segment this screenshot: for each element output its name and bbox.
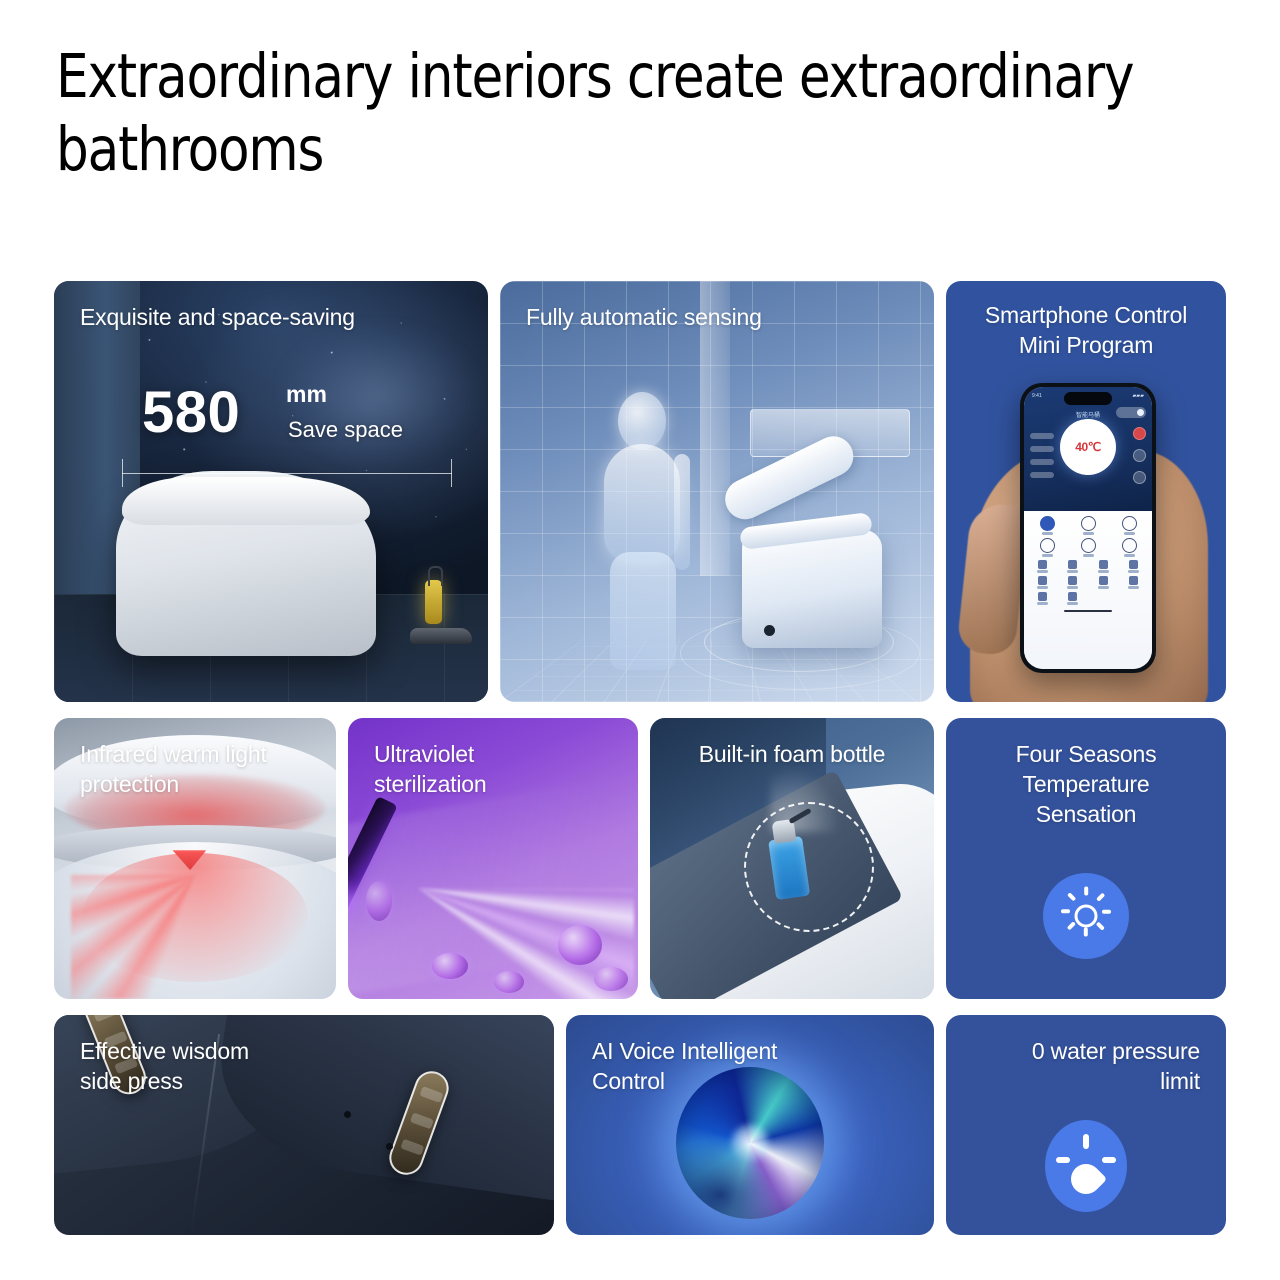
zero-pressure-icon-wrap bbox=[946, 1120, 1226, 1212]
control-row-secondary[interactable] bbox=[1028, 538, 1148, 557]
measure-caption: Save space bbox=[288, 417, 403, 443]
card-title-ai-voice: AI Voice Intelligent Control bbox=[566, 1015, 934, 1097]
water-drop bbox=[1065, 1158, 1107, 1200]
smartphone-device: 9:41 ▰▰▰ 智能马桶 bbox=[1020, 383, 1156, 673]
dimension-tick-right bbox=[451, 459, 452, 487]
flush-icon[interactable] bbox=[1133, 449, 1146, 462]
highlight-dashed-circle bbox=[744, 802, 874, 932]
side-button-dry[interactable] bbox=[400, 1139, 424, 1156]
person-legs bbox=[610, 552, 676, 670]
settings-icon[interactable] bbox=[1133, 471, 1146, 484]
control-key-label bbox=[1042, 532, 1053, 535]
card-title-side-press: Effective wisdom side press bbox=[54, 1015, 554, 1097]
gauge-tick-left bbox=[1056, 1157, 1070, 1163]
water-drop-gauge-icon bbox=[1056, 1134, 1116, 1198]
card-title-auto-sensing: Fully automatic sensing bbox=[500, 281, 934, 333]
control-key[interactable] bbox=[1028, 538, 1066, 557]
control-grid-row-3[interactable] bbox=[1028, 592, 1148, 605]
sun-ray bbox=[1067, 893, 1076, 902]
dimension-callout: 580 mm Save space bbox=[94, 393, 449, 477]
control-key-label bbox=[1124, 532, 1135, 535]
control-key[interactable] bbox=[1120, 560, 1149, 573]
card-title-zero-water-pressure: 0 water pressure limit bbox=[946, 1015, 1226, 1097]
massage-icon bbox=[1129, 560, 1138, 569]
status-tag-list bbox=[1030, 433, 1054, 478]
status-bar-time: 9:41 bbox=[1032, 393, 1042, 399]
control-key-label bbox=[1124, 554, 1135, 557]
control-key-label bbox=[1037, 602, 1048, 605]
control-key[interactable] bbox=[1110, 516, 1148, 535]
card-title-infrared: Infrared warm light protection bbox=[54, 718, 336, 800]
sun-ray bbox=[1067, 922, 1076, 931]
bacteria-particle bbox=[432, 953, 468, 979]
slipper-prop bbox=[410, 628, 472, 644]
person-arm bbox=[674, 454, 690, 570]
control-key[interactable] bbox=[1059, 560, 1088, 573]
home-indicator-area bbox=[1028, 608, 1148, 614]
status-tag bbox=[1030, 446, 1054, 452]
control-key[interactable] bbox=[1089, 576, 1118, 589]
feature-card-ultraviolet[interactable]: Ultraviolet sterilization bbox=[348, 718, 638, 999]
control-key[interactable] bbox=[1059, 576, 1088, 589]
app-header: 9:41 ▰▰▰ 智能马桶 bbox=[1024, 387, 1152, 511]
infographic-page: Extraordinary interiors create extraordi… bbox=[0, 0, 1280, 1280]
sun-ray bbox=[1096, 893, 1105, 902]
phone-screen: 9:41 ▰▰▰ 智能马桶 bbox=[1024, 387, 1152, 669]
control-key[interactable] bbox=[1069, 538, 1107, 557]
child-mode-icon bbox=[1068, 592, 1077, 601]
control-key[interactable] bbox=[1028, 516, 1066, 535]
control-key-label bbox=[1067, 602, 1078, 605]
seat-temp-icon bbox=[1068, 560, 1077, 569]
four-seasons-icon-wrap bbox=[946, 873, 1226, 959]
control-key-label bbox=[1037, 586, 1048, 589]
measure-number: 580 bbox=[142, 379, 240, 446]
feature-card-space-saving[interactable]: Exquisite and space-saving 580 mm Save s… bbox=[54, 281, 488, 702]
control-key[interactable] bbox=[1028, 560, 1057, 573]
control-key-label bbox=[1083, 554, 1094, 557]
feature-card-zero-water-pressure[interactable]: 0 water pressure limit bbox=[946, 1015, 1226, 1235]
water-temp-icon bbox=[1038, 560, 1047, 569]
foam-icon bbox=[1038, 576, 1047, 585]
card-title-space-saving: Exquisite and space-saving bbox=[54, 281, 488, 333]
control-key-label bbox=[1067, 570, 1078, 573]
feature-card-grid: Exquisite and space-saving 580 mm Save s… bbox=[54, 281, 1226, 1235]
page-title: Extraordinary interiors create extraordi… bbox=[56, 40, 1146, 186]
temperature-value: 40℃ bbox=[1075, 440, 1101, 454]
gold-accent-trim bbox=[138, 507, 182, 514]
sun-icon bbox=[1060, 890, 1112, 942]
card-title-four-seasons: Four Seasons Temperature Sensation bbox=[946, 718, 1226, 830]
dimension-bar bbox=[122, 473, 452, 474]
dimension-line bbox=[122, 459, 452, 481]
air-temp-icon bbox=[1099, 560, 1108, 569]
infrared-warm-pool bbox=[82, 853, 308, 982]
control-key-label bbox=[1067, 586, 1078, 589]
person-head bbox=[618, 392, 666, 450]
person-torso bbox=[604, 444, 680, 562]
power-icon[interactable] bbox=[1133, 427, 1146, 440]
measure-unit: mm bbox=[286, 381, 327, 408]
feature-card-auto-sensing[interactable]: Fully automatic sensing bbox=[500, 281, 934, 702]
status-tag bbox=[1030, 472, 1054, 478]
nozzle-icon bbox=[1081, 538, 1096, 553]
sun-ray bbox=[1084, 887, 1088, 896]
control-key[interactable] bbox=[1120, 576, 1149, 589]
sun-ray bbox=[1061, 910, 1070, 914]
sensor-dot bbox=[344, 1111, 351, 1118]
control-key[interactable] bbox=[1069, 516, 1107, 535]
bacteria-particle bbox=[366, 881, 392, 921]
card-title-ultraviolet: Ultraviolet sterilization bbox=[348, 718, 638, 800]
dynamic-island bbox=[1064, 392, 1112, 405]
floor-lamp bbox=[425, 580, 442, 624]
temperature-dial[interactable]: 40℃ bbox=[1060, 419, 1116, 475]
quick-action-column[interactable] bbox=[1133, 427, 1146, 484]
front-wash-icon bbox=[1122, 516, 1137, 531]
control-key[interactable] bbox=[1089, 560, 1118, 573]
feature-card-ai-voice[interactable]: AI Voice Intelligent Control bbox=[566, 1015, 934, 1235]
sun-core bbox=[1075, 905, 1098, 928]
control-key-label bbox=[1083, 532, 1094, 535]
card-title-foam-bottle: Built-in foam bottle bbox=[650, 718, 934, 770]
bacteria-particle bbox=[494, 971, 524, 993]
control-key-label bbox=[1098, 570, 1109, 573]
thumb bbox=[956, 501, 1029, 656]
stop-icon bbox=[1122, 538, 1137, 553]
control-key-label bbox=[1037, 570, 1048, 573]
bacteria-particle bbox=[558, 925, 602, 965]
side-button-wash[interactable] bbox=[410, 1112, 434, 1129]
home-indicator bbox=[1064, 610, 1112, 612]
gauge-tick-top bbox=[1083, 1134, 1089, 1149]
feature-card-side-press[interactable]: Effective wisdom side press bbox=[54, 1015, 554, 1235]
control-grid-row-1[interactable] bbox=[1028, 560, 1148, 573]
icon-circle bbox=[1045, 1120, 1127, 1212]
icon-circle bbox=[1043, 873, 1129, 959]
control-key-label bbox=[1042, 554, 1053, 557]
gauge-tick-right bbox=[1102, 1157, 1116, 1163]
control-panel[interactable] bbox=[1024, 511, 1152, 669]
holographic-person bbox=[582, 392, 714, 668]
mode-toggle[interactable] bbox=[1116, 407, 1146, 418]
sun-ray bbox=[1084, 928, 1088, 937]
control-key[interactable] bbox=[1110, 538, 1148, 557]
feature-card-foam-bottle[interactable]: Built-in foam bottle bbox=[650, 718, 934, 999]
status-tag bbox=[1030, 433, 1054, 439]
auto-mode-icon bbox=[1038, 592, 1047, 601]
status-tag bbox=[1030, 459, 1054, 465]
card-title-smartphone-control: Smartphone Control Mini Program bbox=[946, 281, 1226, 361]
sun-ray bbox=[1096, 922, 1105, 931]
feature-card-infrared[interactable]: Infrared warm light protection bbox=[54, 718, 336, 999]
control-row-primary[interactable] bbox=[1028, 516, 1148, 535]
control-key[interactable] bbox=[1059, 592, 1088, 605]
control-key-label bbox=[1128, 570, 1139, 573]
control-grid-row-2[interactable] bbox=[1028, 576, 1148, 589]
sun-ray bbox=[1102, 910, 1111, 914]
control-key[interactable] bbox=[1028, 576, 1057, 589]
uv-icon bbox=[1099, 576, 1108, 585]
smart-toilet-product bbox=[116, 471, 376, 656]
feature-card-smartphone-control[interactable]: Smartphone Control Mini Program 9:41 ▰▰▰… bbox=[946, 281, 1226, 702]
wash-icon bbox=[1040, 516, 1055, 531]
sensor-dot bbox=[386, 1143, 393, 1150]
bacteria-particle bbox=[594, 967, 628, 991]
status-bar-signal: ▰▰▰ bbox=[1132, 393, 1144, 399]
control-key[interactable] bbox=[1028, 592, 1057, 605]
control-key-label bbox=[1128, 586, 1139, 589]
sensor-dot bbox=[764, 625, 775, 636]
dry-icon bbox=[1040, 538, 1055, 553]
rear-wash-icon bbox=[1081, 516, 1096, 531]
control-key-label bbox=[1098, 586, 1109, 589]
feature-card-four-seasons[interactable]: Four Seasons Temperature Sensation bbox=[946, 718, 1226, 999]
night-light-icon bbox=[1068, 576, 1077, 585]
smart-toilet-lid-open bbox=[742, 530, 882, 648]
deodorize-icon bbox=[1129, 576, 1138, 585]
